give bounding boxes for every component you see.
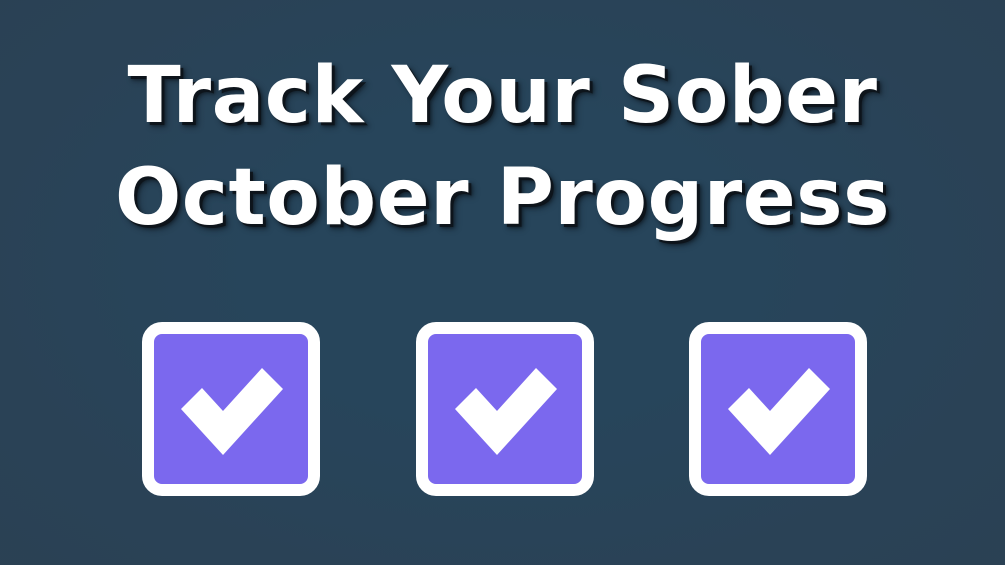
poster-canvas: Track Your Sober October Progress <box>0 0 1005 565</box>
page-title-line-2: October Progress <box>0 146 1005 250</box>
progress-checkbox-1[interactable] <box>142 322 320 496</box>
progress-checkbox-row <box>142 322 867 496</box>
checkmark-icon <box>176 356 288 460</box>
page-title-line-1: Track Your Sober <box>0 44 1005 148</box>
progress-checkbox-2[interactable] <box>416 322 594 496</box>
progress-checkbox-3[interactable] <box>689 322 867 496</box>
page-title: Track Your Sober October Progress <box>0 44 1005 250</box>
checkmark-icon <box>723 356 835 460</box>
checkmark-icon <box>450 356 562 460</box>
